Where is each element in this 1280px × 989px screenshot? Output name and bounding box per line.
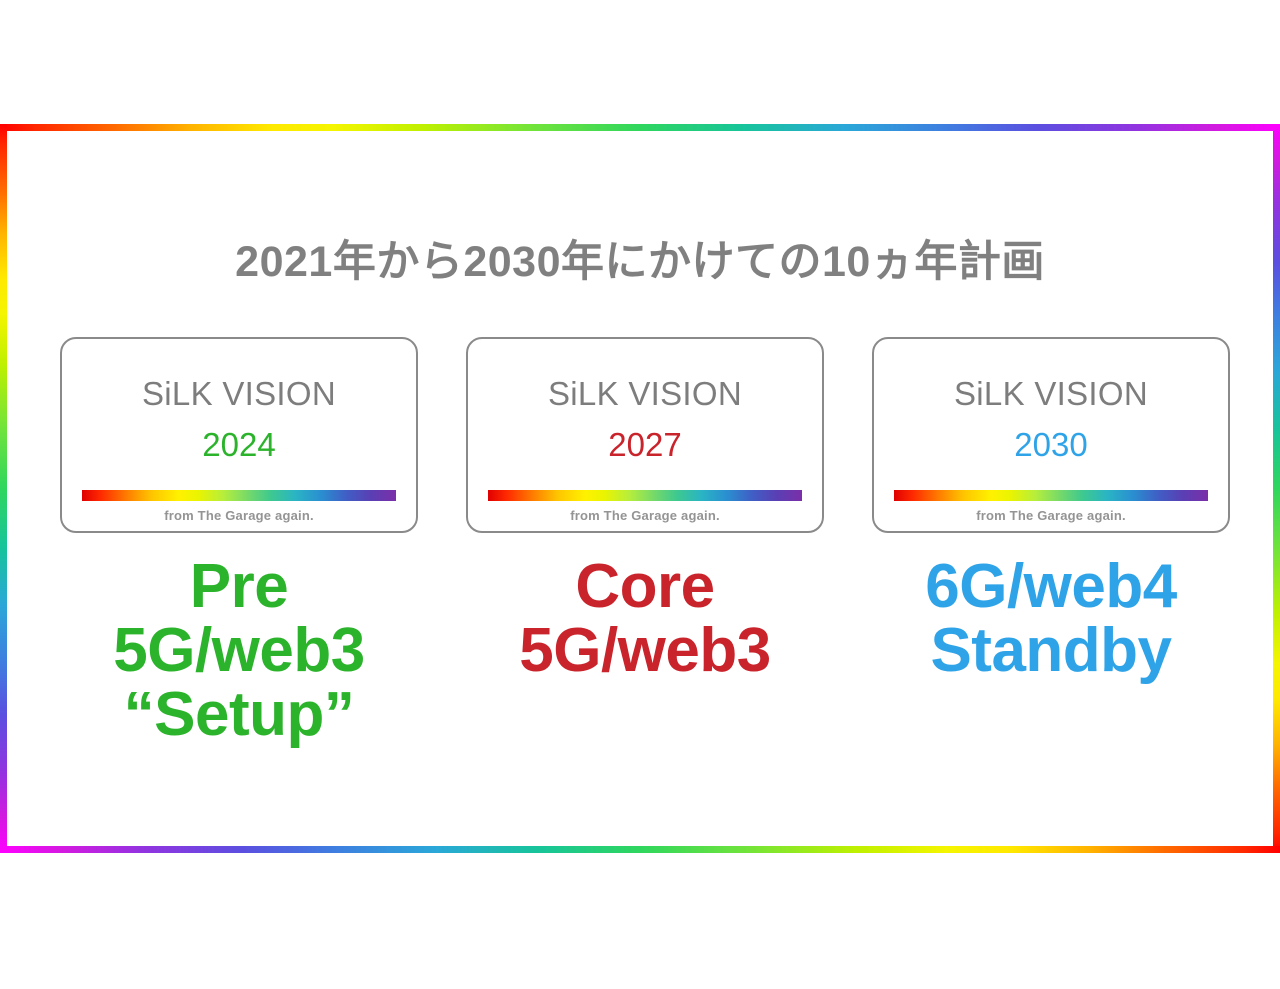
vision-card-2024[interactable]: SiLK VISION 2024 from The Garage again. — [60, 337, 418, 533]
card-year-label: 2030 — [1014, 428, 1087, 461]
phase-label-2024: Pre 5G/web3 “Setup” — [113, 555, 365, 747]
card-year-label: 2024 — [202, 428, 275, 461]
phase-label-2027: Core 5G/web3 — [519, 555, 771, 683]
slide-content: 2021年から2030年にかけての10ヵ年計画 SiLK VISION 2024… — [7, 131, 1273, 846]
phase-label-line: 6G/web4 — [925, 555, 1177, 619]
card-brand-label: SiLK VISION — [954, 377, 1148, 410]
phase-label-line: Core — [519, 555, 771, 619]
rainbow-border-bottom — [0, 846, 1280, 853]
card-brand-label: SiLK VISION — [142, 377, 336, 410]
phase-label-line: Pre — [113, 555, 365, 619]
phase-label-line: “Setup” — [113, 683, 365, 747]
card-brand-label: SiLK VISION — [548, 377, 742, 410]
phase-label-2030: 6G/web4 Standby — [925, 555, 1177, 683]
slide-frame: 2021年から2030年にかけての10ヵ年計画 SiLK VISION 2024… — [0, 124, 1280, 853]
phase-column-2024: SiLK VISION 2024 from The Garage again. … — [55, 337, 423, 747]
phase-label-line: 5G/web3 — [113, 619, 365, 683]
slide-title: 2021年から2030年にかけての10ヵ年計画 — [7, 227, 1273, 289]
rainbow-bar-icon — [894, 490, 1208, 501]
phase-column-2027: SiLK VISION 2027 from The Garage again. … — [461, 337, 829, 683]
card-tagline: from The Garage again. — [468, 508, 822, 523]
phase-label-line: Standby — [925, 619, 1177, 683]
vision-card-2027[interactable]: SiLK VISION 2027 from The Garage again. — [466, 337, 824, 533]
rainbow-border-left — [0, 124, 7, 853]
card-tagline: from The Garage again. — [62, 508, 416, 523]
card-year-label: 2027 — [608, 428, 681, 461]
phase-columns: SiLK VISION 2024 from The Garage again. … — [55, 337, 1235, 747]
vision-card-2030[interactable]: SiLK VISION 2030 from The Garage again. — [872, 337, 1230, 533]
rainbow-border-right — [1273, 124, 1280, 853]
phase-column-2030: SiLK VISION 2030 from The Garage again. … — [867, 337, 1235, 683]
rainbow-border-top — [0, 124, 1280, 131]
card-tagline: from The Garage again. — [874, 508, 1228, 523]
phase-label-line: 5G/web3 — [519, 619, 771, 683]
rainbow-bar-icon — [488, 490, 802, 501]
rainbow-bar-icon — [82, 490, 396, 501]
